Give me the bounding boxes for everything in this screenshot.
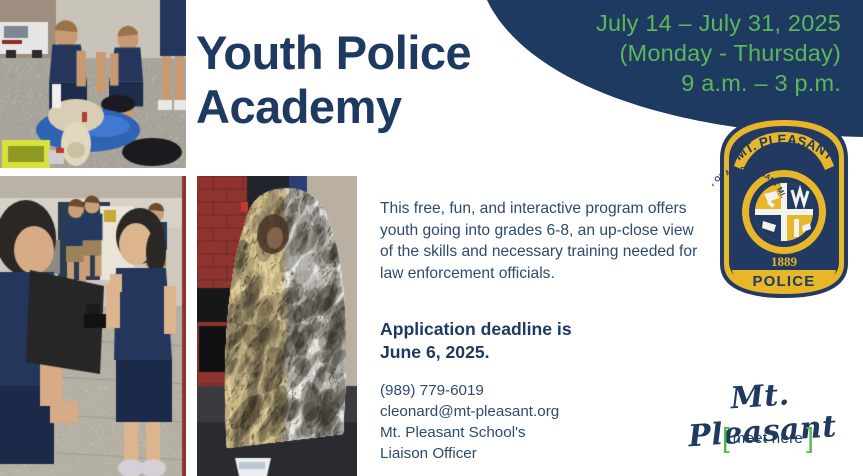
banner-schedule: July 14 – July 31, 2025 (Monday - Thursd… — [596, 8, 841, 98]
contact-org: Mt. Pleasant School's — [380, 422, 680, 443]
badge-bottom-text: POLICE — [752, 273, 815, 290]
contact-role: Liaison Officer — [380, 443, 680, 464]
banner-hours: 9 a.m. – 3 p.m. — [596, 68, 841, 98]
photo-self-defense-training — [0, 176, 186, 476]
contact-email[interactable]: cleonard@mt-pleasant.org — [380, 401, 680, 422]
contact-block: (989) 779-6019 cleonard@mt-pleasant.org … — [380, 380, 680, 464]
application-deadline: Application deadline is June 6, 2025. — [380, 318, 710, 364]
contact-phone[interactable]: (989) 779-6019 — [380, 380, 680, 401]
wordmark-tagline-text: meet here — [733, 430, 803, 447]
mt-pleasant-wordmark: Mt. Pleasant [ meet here ] — [664, 386, 854, 466]
banner-dates: July 14 – July 31, 2025 — [596, 8, 841, 38]
photo-cpr-training — [0, 0, 186, 168]
deadline-line2: June 6, 2025. — [380, 341, 710, 364]
page-title-line1: Youth Police — [196, 26, 471, 79]
police-badge-icon: MT. PLEASANT CITY OF MT. PLEASANT MI. — [712, 114, 856, 300]
page-title-line2: Academy — [196, 80, 471, 134]
banner-days: (Monday - Thursday) — [596, 38, 841, 68]
badge-year: 1889 — [771, 254, 798, 269]
page-title: Youth Police Academy — [196, 26, 471, 134]
photo-ghillie-suit — [197, 176, 357, 476]
flyer-canvas: July 14 – July 31, 2025 (Monday - Thursd… — [0, 0, 863, 476]
bracket-left-icon: [ — [722, 426, 730, 450]
program-description: This free, fun, and interactive program … — [380, 198, 710, 284]
bracket-right-icon: ] — [806, 426, 814, 450]
wordmark-tagline: [ meet here ] — [722, 426, 814, 450]
deadline-line1: Application deadline is — [380, 318, 710, 341]
